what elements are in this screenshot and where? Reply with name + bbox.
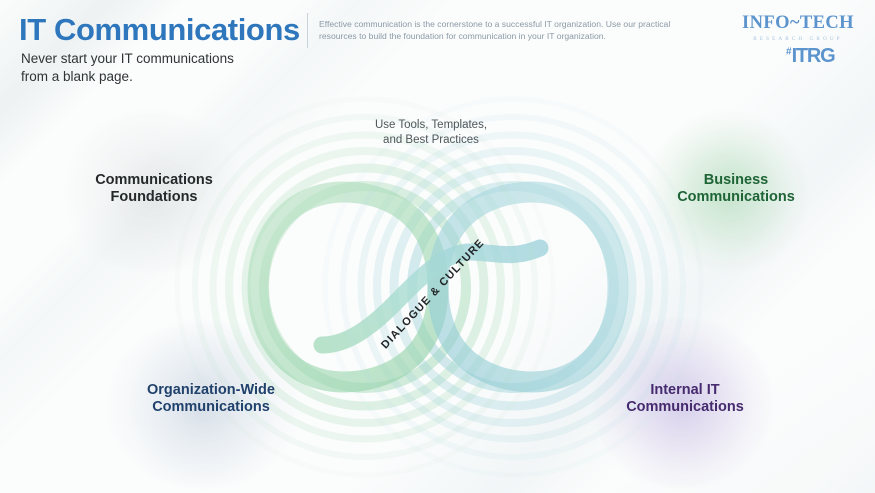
page-title: IT Communications (19, 12, 300, 48)
diagram-center-label: DIALOGUE & CULTURE (360, 217, 505, 371)
logo-itrg-text: ITRG (792, 45, 835, 67)
node-label-communications-foundations[interactable]: Communications Foundations (54, 172, 254, 207)
logo-itrg-mark: #ITRG (786, 46, 835, 66)
node-label-business-communications[interactable]: Business Communications (636, 172, 836, 207)
page-subtitle: Never start your IT communications from … (21, 50, 234, 86)
slide-canvas: IT Communications Never start your IT co… (0, 0, 875, 493)
node-label-internal-it-communications[interactable]: Internal IT Communications (560, 382, 810, 417)
diagram-top-label: Use Tools, Templates, and Best Practices (336, 118, 526, 149)
node-label-organization-wide-communications[interactable]: Organization-Wide Communications (86, 382, 336, 417)
logo[interactable]: INFO~TECH RESEARCH GROUP #ITRG (736, 14, 858, 70)
logo-infotech-tagline: RESEARCH GROUP (742, 36, 854, 42)
header-divider (307, 13, 308, 48)
header: IT Communications Never start your IT co… (0, 0, 875, 92)
logo-infotech-wordmark: INFO~TECH (742, 14, 854, 33)
header-description: Effective communication is the cornersto… (319, 18, 691, 43)
